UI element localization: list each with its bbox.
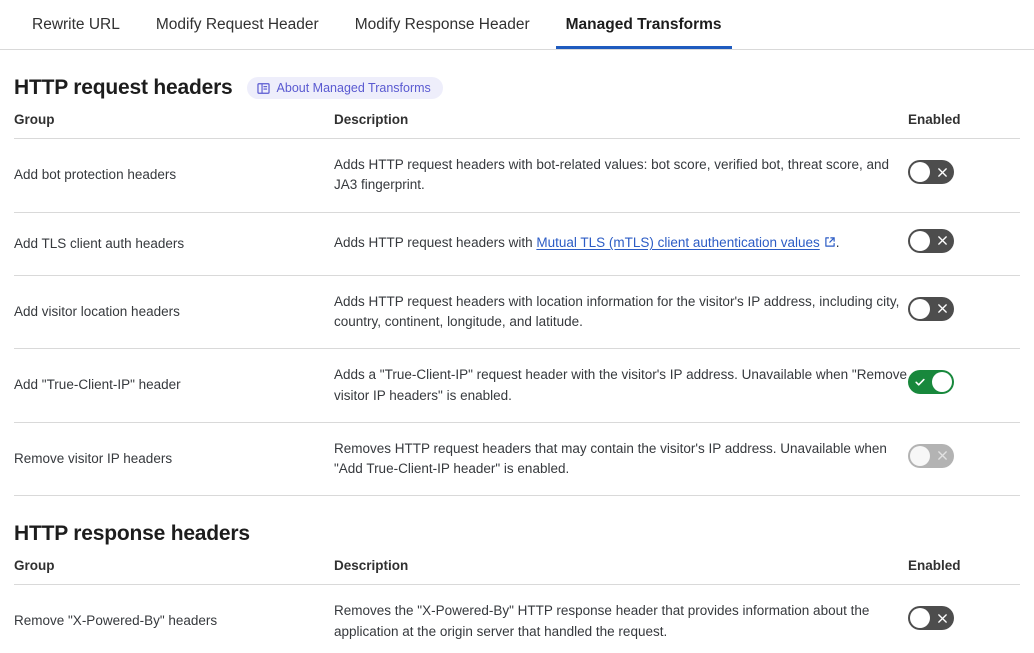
row-enabled-cell [908, 422, 1020, 496]
response-section-title: HTTP response headers [14, 522, 250, 546]
row-description: Adds a "True-Client-IP" request header w… [334, 349, 908, 423]
tab-modify-request-header[interactable]: Modify Request Header [138, 0, 337, 49]
tab-bar: Rewrite URL Modify Request Header Modify… [0, 0, 1034, 50]
request-headers-table: Group Description Enabled Add bot protec… [14, 112, 1020, 496]
toggle-add-visitor-location-headers[interactable] [908, 297, 954, 321]
column-header-description: Description [334, 112, 908, 139]
table-row: Remove "X-Powered-By" headers Removes th… [14, 585, 1020, 653]
check-icon [908, 370, 932, 394]
description-suffix: . [836, 235, 840, 250]
http-response-headers-section: HTTP response headers Group Description … [0, 496, 1034, 653]
book-icon [257, 82, 270, 95]
close-icon [930, 606, 954, 630]
column-header-group: Group [14, 112, 334, 139]
description-prefix: Adds HTTP request headers with [334, 235, 536, 250]
close-icon [930, 297, 954, 321]
tab-managed-transforms[interactable]: Managed Transforms [548, 0, 740, 49]
http-request-headers-section: HTTP request headers About Managed Trans… [0, 50, 1034, 496]
toggle-knob [932, 372, 952, 392]
row-group-name: Add "True-Client-IP" header [14, 349, 334, 423]
close-icon [930, 229, 954, 253]
table-row: Add TLS client auth headers Adds HTTP re… [14, 212, 1020, 275]
row-group-name: Remove visitor IP headers [14, 422, 334, 496]
row-enabled-cell [908, 349, 1020, 423]
external-link-icon[interactable] [824, 234, 836, 254]
row-description: Adds HTTP request headers with bot-relat… [334, 139, 908, 213]
table-header-row: Group Description Enabled [14, 558, 1020, 585]
row-enabled-cell [908, 212, 1020, 275]
about-managed-transforms-badge[interactable]: About Managed Transforms [247, 77, 443, 99]
column-header-description: Description [334, 558, 908, 585]
row-group-name: Add visitor location headers [14, 275, 334, 349]
row-group-name: Add TLS client auth headers [14, 212, 334, 275]
column-header-group: Group [14, 558, 334, 585]
row-group-name: Add bot protection headers [14, 139, 334, 213]
toggle-knob [910, 162, 930, 182]
toggle-remove-visitor-ip-headers [908, 444, 954, 468]
close-icon [930, 444, 954, 468]
row-group-name: Remove "X-Powered-By" headers [14, 585, 334, 653]
toggle-knob [910, 299, 930, 319]
table-row: Add visitor location headers Adds HTTP r… [14, 275, 1020, 349]
tab-modify-response-header[interactable]: Modify Response Header [337, 0, 548, 49]
toggle-knob [910, 231, 930, 251]
row-enabled-cell [908, 585, 1020, 653]
toggle-knob [910, 608, 930, 628]
row-description: Removes the "X-Powered-By" HTTP response… [334, 585, 908, 653]
response-headers-table: Group Description Enabled Remove "X-Powe… [14, 558, 1020, 653]
page-title: HTTP request headers [14, 76, 233, 100]
toggle-add-true-client-ip-header[interactable] [908, 370, 954, 394]
table-row: Add "True-Client-IP" header Adds a "True… [14, 349, 1020, 423]
toggle-remove-x-powered-by-headers[interactable] [908, 606, 954, 630]
table-row: Remove visitor IP headers Removes HTTP r… [14, 422, 1020, 496]
about-managed-transforms-label: About Managed Transforms [277, 81, 431, 95]
row-enabled-cell [908, 139, 1020, 213]
mtls-documentation-link[interactable]: Mutual TLS (mTLS) client authentication … [536, 235, 819, 250]
response-section-header: HTTP response headers [14, 496, 1020, 558]
toggle-add-tls-client-auth-headers[interactable] [908, 229, 954, 253]
toggle-knob [910, 446, 930, 466]
close-icon [930, 160, 954, 184]
row-description: Adds HTTP request headers with location … [334, 275, 908, 349]
column-header-enabled: Enabled [908, 112, 1020, 139]
table-header-row: Group Description Enabled [14, 112, 1020, 139]
row-enabled-cell [908, 275, 1020, 349]
row-description: Removes HTTP request headers that may co… [334, 422, 908, 496]
toggle-add-bot-protection-headers[interactable] [908, 160, 954, 184]
request-section-header: HTTP request headers About Managed Trans… [14, 50, 1020, 112]
row-description: Adds HTTP request headers with Mutual TL… [334, 212, 908, 275]
tab-rewrite-url[interactable]: Rewrite URL [14, 0, 138, 49]
column-header-enabled: Enabled [908, 558, 1020, 585]
table-row: Add bot protection headers Adds HTTP req… [14, 139, 1020, 213]
